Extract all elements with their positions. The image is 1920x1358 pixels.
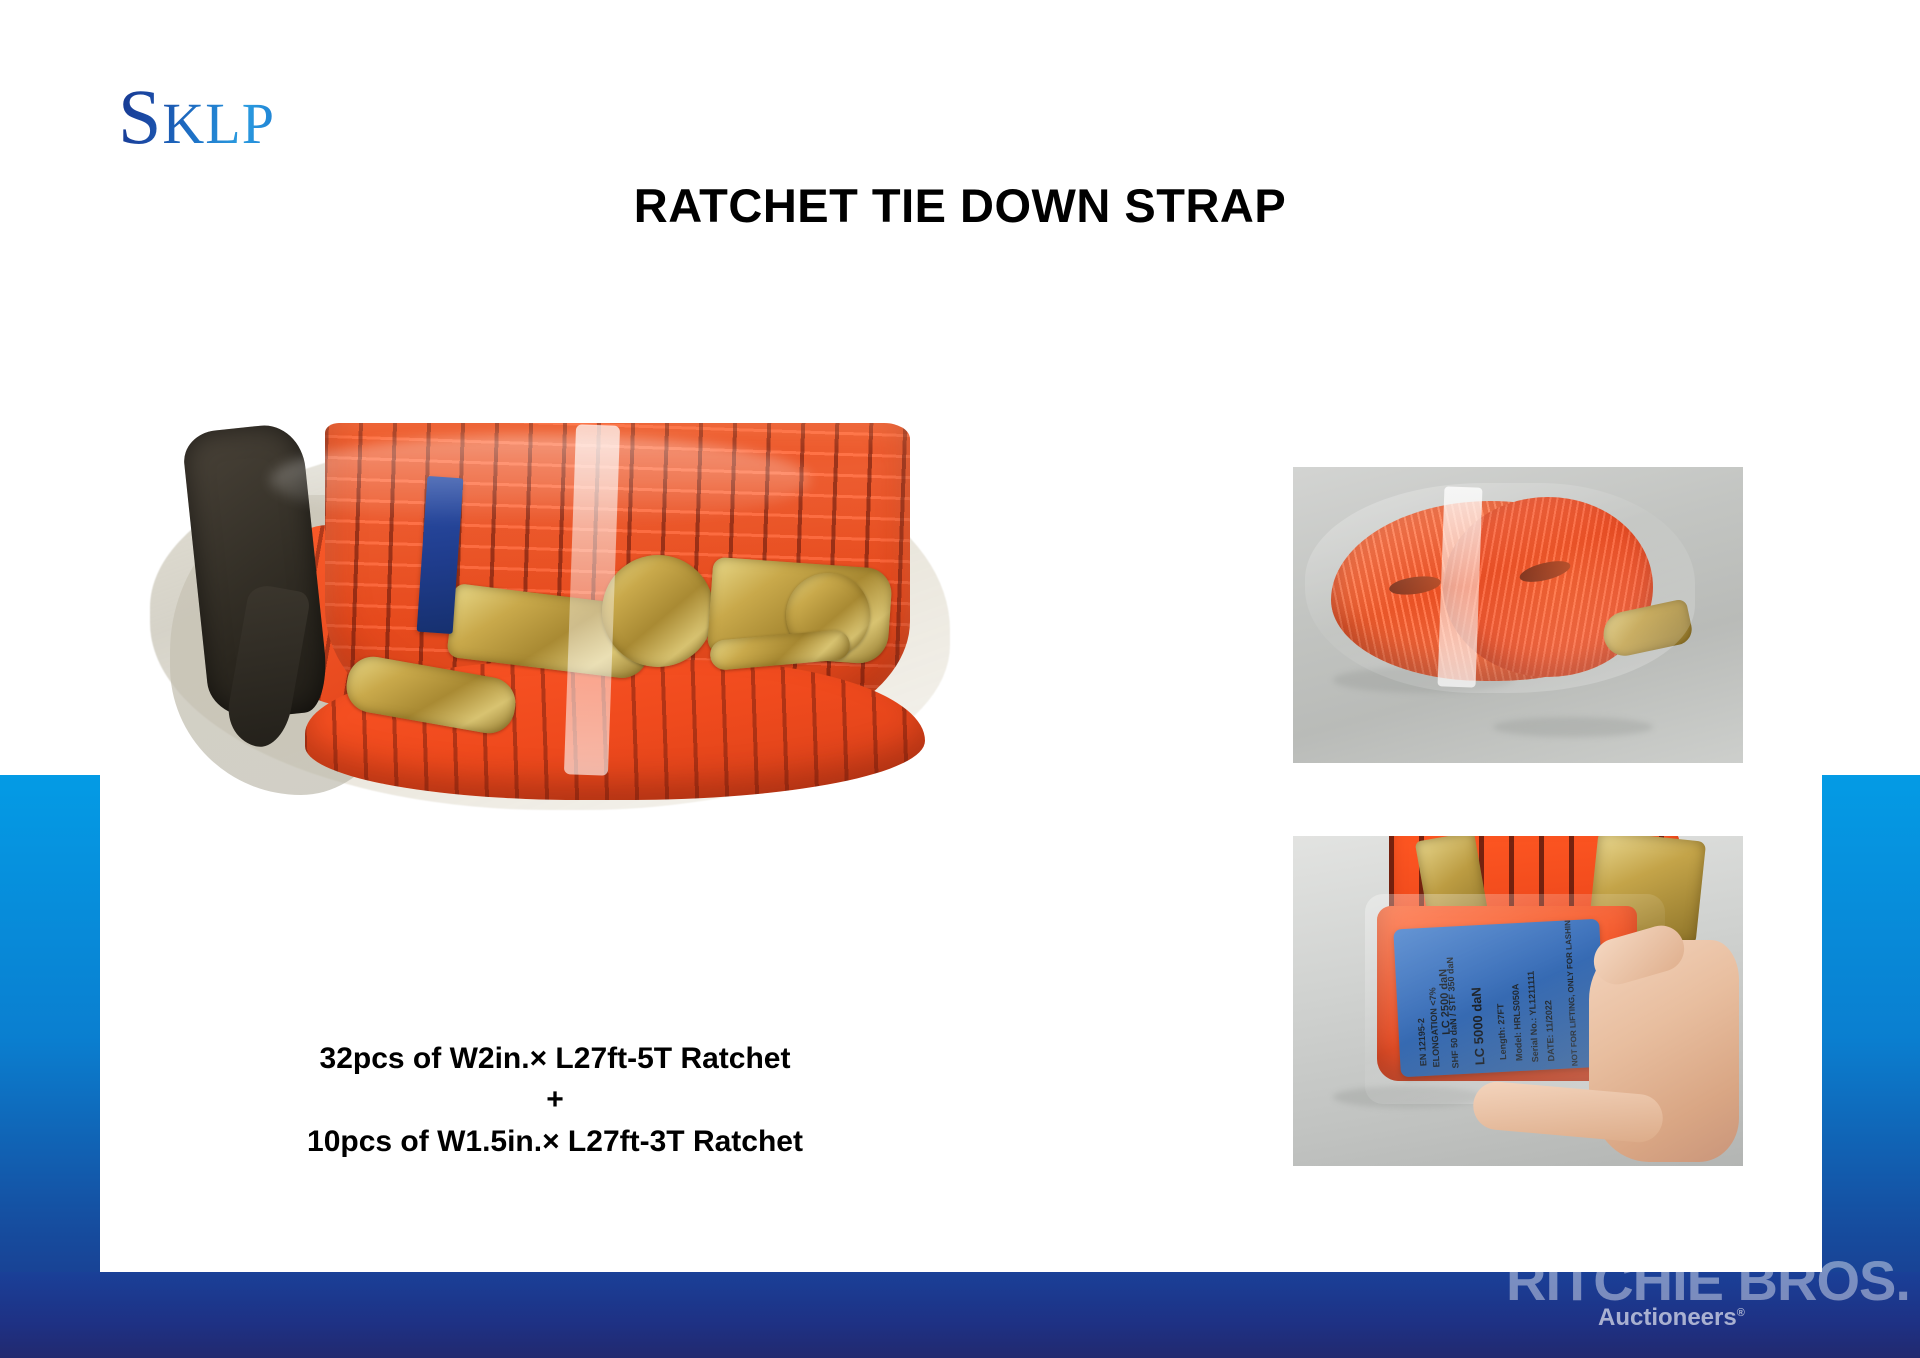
brand-logo-lead: S bbox=[118, 73, 162, 160]
caption-line-1: 32pcs of W2in.× L27ft-5T Ratchet bbox=[320, 1042, 791, 1075]
ratchet-drum-icon bbox=[602, 555, 714, 667]
brand-logo: SKLP bbox=[118, 78, 275, 156]
left-accent-band bbox=[0, 775, 100, 1358]
product-photo-top-right bbox=[1293, 467, 1743, 763]
right-accent-band bbox=[1822, 775, 1920, 1358]
product-photo-main bbox=[150, 405, 960, 825]
brand-logo-rest: KLP bbox=[162, 91, 275, 156]
product-photo-bottom-right: EN 12195-2 ELONGATION <7% SHF 50 daN / S… bbox=[1293, 836, 1743, 1166]
plastic-gloss-highlight bbox=[270, 435, 810, 525]
surface-scuff bbox=[1493, 717, 1653, 737]
caption-plus: + bbox=[150, 1079, 960, 1120]
bottom-accent-band bbox=[0, 1272, 1920, 1358]
clear-plastic-wrap bbox=[1305, 483, 1695, 693]
caption-line-2: 10pcs of W1.5in.× L27ft-3T Ratchet bbox=[307, 1125, 803, 1158]
product-photo-main-canvas bbox=[150, 405, 960, 825]
slide-canvas: SKLP RATCHET TIE DOWN STRAP 32pcs of W2i… bbox=[0, 0, 1920, 1358]
product-caption: 32pcs of W2in.× L27ft-5T Ratchet + 10pcs… bbox=[150, 1038, 960, 1162]
page-title: RATCHET TIE DOWN STRAP bbox=[0, 178, 1920, 233]
